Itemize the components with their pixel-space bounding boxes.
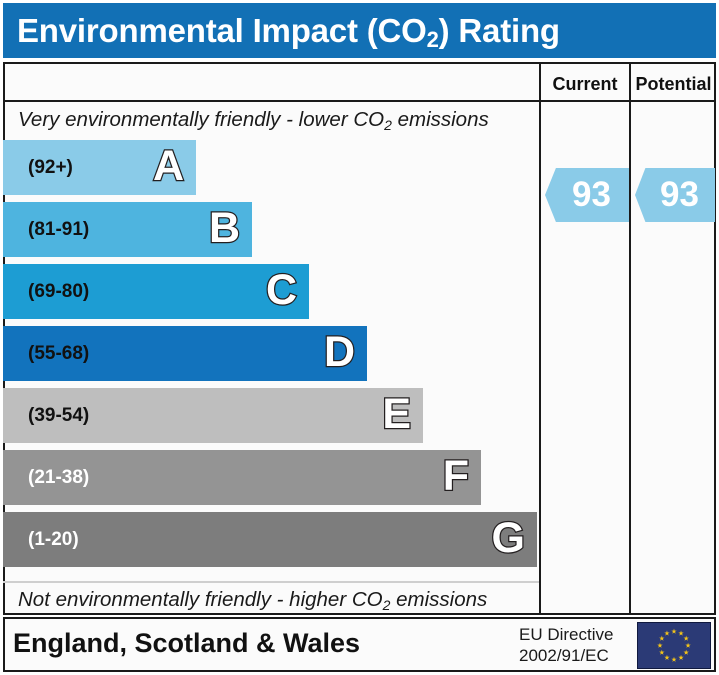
- eu-directive-line2: 2002/91/EC: [519, 645, 629, 666]
- page-title-main: Environmental Impact (CO: [17, 12, 427, 49]
- rating-band-b: (81-91)B: [3, 202, 252, 257]
- eu-directive-label: EU Directive 2002/91/EC: [519, 624, 629, 666]
- column-header-potential: Potential: [631, 70, 716, 98]
- rating-band-e: (39-54)E: [3, 388, 423, 443]
- band-letter-e: E: [382, 388, 411, 443]
- caption-bottom-tail: emissions: [390, 588, 487, 611]
- footer-region-label: England, Scotland & Wales: [13, 628, 360, 659]
- current-rating-arrow: 93: [545, 168, 629, 222]
- page-title: Environmental Impact (CO2) Rating: [17, 12, 560, 50]
- band-range-f: (21-38): [28, 450, 89, 505]
- caption-top-subscript: 2: [384, 117, 392, 133]
- caption-very-friendly: Very environmentally friendly - lower CO…: [18, 108, 489, 132]
- rating-band-d: (55-68)D: [3, 326, 367, 381]
- band-letter-b: B: [209, 202, 240, 257]
- current-rating-value: 93: [545, 168, 629, 222]
- caption-top-tail: emissions: [392, 108, 489, 131]
- potential-column-divider: [629, 62, 631, 615]
- caption-top-lead: Very environmentally friendly - lower CO: [18, 108, 384, 131]
- page-title-subscript: 2: [427, 27, 439, 52]
- band-range-a: (92+): [28, 140, 73, 195]
- band-letter-c: C: [266, 264, 297, 319]
- page-title-tail: ) Rating: [439, 12, 560, 49]
- eu-directive-line1: EU Directive: [519, 624, 629, 645]
- band-letter-a: A: [153, 140, 184, 195]
- rating-band-c: (69-80)C: [3, 264, 309, 319]
- header-row-divider: [3, 100, 716, 102]
- caption-bottom-subscript: 2: [383, 597, 391, 613]
- band-range-g: (1-20): [28, 512, 79, 567]
- caption-bottom-lead: Not environmentally friendly - higher CO: [18, 588, 383, 611]
- bottom-caption-divider: [3, 581, 539, 583]
- column-header-current: Current: [541, 70, 629, 98]
- rating-band-f: (21-38)F: [3, 450, 481, 505]
- rating-band-a: (92+)A: [3, 140, 196, 195]
- epc-environmental-impact-chart: Environmental Impact (CO2) Rating Curren…: [0, 0, 719, 675]
- potential-rating-value: 93: [635, 168, 715, 222]
- band-range-d: (55-68): [28, 326, 89, 381]
- rating-band-g: (1-20)G: [3, 512, 537, 567]
- band-letter-f: F: [443, 450, 469, 505]
- band-letter-g: G: [492, 512, 525, 567]
- current-column-divider: [539, 62, 541, 615]
- caption-not-friendly: Not environmentally friendly - higher CO…: [18, 588, 487, 612]
- band-range-c: (69-80): [28, 264, 89, 319]
- band-letter-d: D: [324, 326, 355, 381]
- eu-flag-icon: [637, 622, 711, 669]
- potential-rating-arrow: 93: [635, 168, 715, 222]
- band-range-e: (39-54): [28, 388, 89, 443]
- chart-title-bar: Environmental Impact (CO2) Rating: [3, 3, 716, 58]
- band-range-b: (81-91): [28, 202, 89, 257]
